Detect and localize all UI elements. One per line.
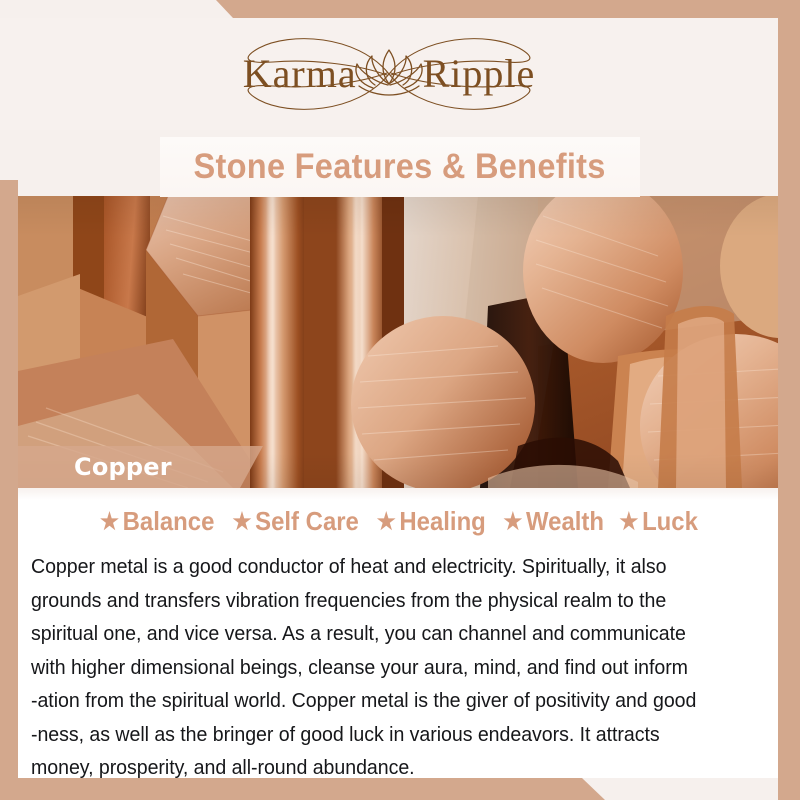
description-line: -ation from the spiritual world. Copper … (31, 684, 740, 718)
brand-wordmark: Karma Ripple (189, 54, 589, 94)
brand-word-right: Ripple (423, 54, 536, 94)
benefit-label: Balance (122, 506, 214, 537)
frame-left-strip (0, 180, 18, 800)
benefits-row: ★ Balance ★ Self Care ★ Healing ★ Wealth… (18, 506, 778, 537)
benefit-item: ★ Healing (374, 506, 489, 537)
stone-description: Copper metal is a good conductor of heat… (31, 550, 740, 785)
stone-name-banner: Copper (18, 446, 263, 488)
description-line: spiritual one, and vice versa. As a resu… (31, 617, 740, 651)
copper-bars-photo (18, 196, 778, 488)
stone-name: Copper (74, 453, 172, 481)
panel-top-fade (18, 488, 778, 500)
brand-logo: Karma Ripple (189, 28, 589, 120)
page-title: Stone Features & Benefits (194, 147, 606, 187)
star-icon: ★ (232, 510, 251, 533)
benefit-label: Self Care (255, 506, 359, 537)
brand-word-left: Karma (243, 54, 357, 94)
star-icon: ★ (377, 510, 396, 533)
benefit-item: ★ Luck (617, 506, 701, 537)
benefit-item: ★ Wealth (500, 506, 606, 537)
product-info-poster: Karma Ripple Stone Features & Benefits (0, 0, 800, 800)
benefit-item: ★ Balance (97, 506, 217, 537)
content-panel: ★ Balance ★ Self Care ★ Healing ★ Wealth… (18, 488, 778, 778)
hero-image: Copper (18, 196, 778, 488)
description-line: with higher dimensional beings, cleanse … (31, 651, 740, 685)
brand-header: Karma Ripple (0, 18, 778, 130)
star-icon: ★ (503, 510, 522, 533)
frame-right-strip (778, 0, 800, 800)
star-icon: ★ (99, 510, 118, 533)
description-line: grounds and transfers vibration frequenc… (31, 584, 740, 618)
frame-top-band (0, 0, 800, 18)
star-icon: ★ (620, 510, 639, 533)
description-line: -ness, as well as the bringer of good lu… (31, 718, 740, 752)
benefit-label: Luck (642, 506, 698, 537)
benefit-item: ★ Self Care (230, 506, 362, 537)
description-line: Copper metal is a good conductor of heat… (31, 550, 740, 584)
benefit-label: Healing (400, 506, 486, 537)
benefit-label: Wealth (526, 506, 604, 537)
title-banner: Stone Features & Benefits (160, 137, 640, 197)
